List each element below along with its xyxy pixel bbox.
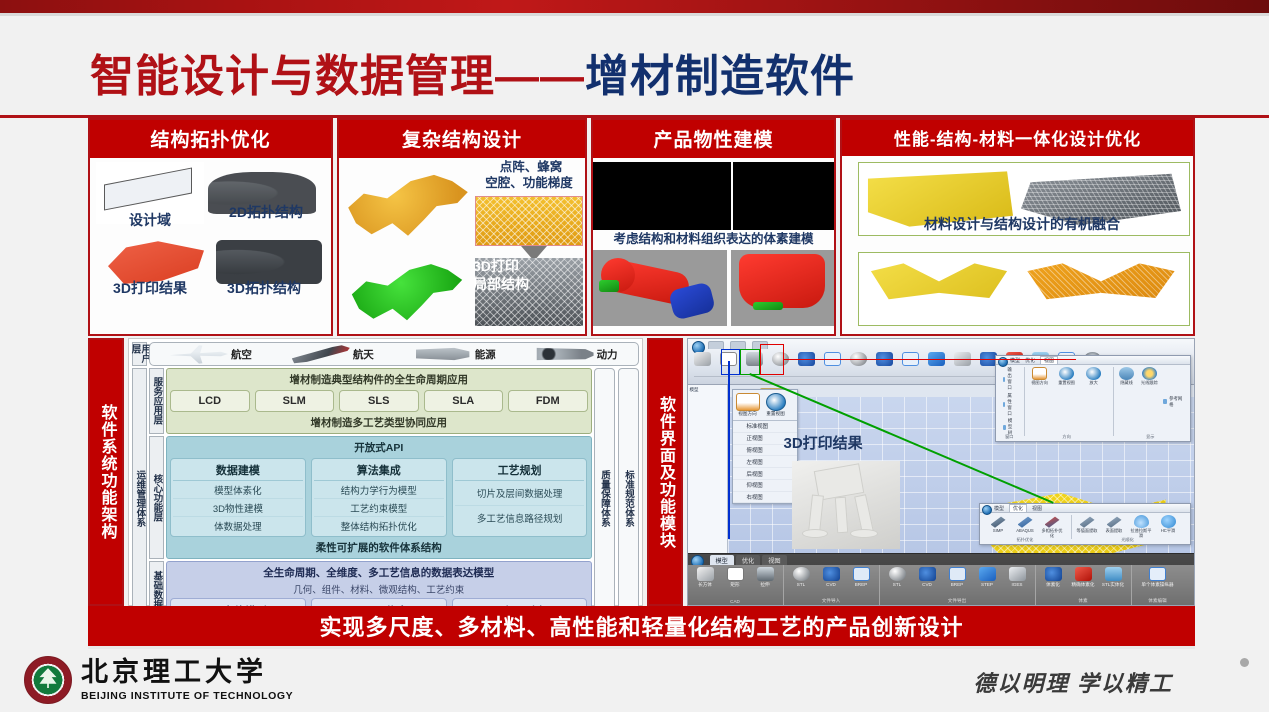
core-layer-body: 开放式API 数据建模 模型体素化 3D物性建模 体数据处理 算法集成 结构力学…: [166, 436, 592, 559]
tab-view[interactable]: [752, 341, 768, 349]
topology-3d-image: [216, 240, 322, 284]
group-topology-optimization: SIMP ABAQUS 多相拓扑优化 拓扑优化: [983, 515, 1067, 539]
university-name-en: BEIJING INSTITUTE OF TECHNOLOGY: [81, 690, 293, 702]
core-bottom-band: 柔性可扩展的软件体系结构: [170, 540, 588, 555]
panel-header: 产品物性建模: [593, 120, 834, 158]
panel-header: 性能-结构-材料一体化设计优化: [842, 120, 1193, 156]
view-direction-cell[interactable]: 视图方向: [1029, 367, 1051, 436]
panel-body: 考虑结构和材料组织表达的体素建模: [593, 158, 834, 334]
quality-assurance-column: 质量保障体系: [594, 368, 615, 628]
sphere-icon: [793, 567, 810, 581]
core-column-data-modeling: 数据建模 模型体素化 3D物性建模 体数据处理: [170, 458, 306, 537]
group-name: 窗口: [999, 434, 1020, 440]
group-direction: 视图方向 重置视图 放大 方向: [1024, 367, 1109, 436]
tab-model[interactable]: [708, 341, 724, 349]
service-chip-fdm[interactable]: FDM: [508, 390, 588, 412]
university-motto: 德以明理 学以精工: [973, 666, 1173, 698]
hidden-line-icon: [1119, 367, 1134, 380]
popup-optimize-tabs: 模型 优化 视图: [980, 504, 1190, 513]
bottom-tab-optimize[interactable]: 优化: [736, 555, 760, 565]
popup-optimize-ribbon[interactable]: 模型 优化 视图 SIMP ABAQUS 多相拓扑优化: [979, 503, 1191, 545]
caption-design-domain: 设计域: [104, 212, 196, 228]
laplacian-smooth-cell[interactable]: 拉普拉斯平滑: [1130, 515, 1152, 539]
model-tree-panel[interactable]: 模型: [688, 385, 728, 553]
view-direction-label: 视图方向: [736, 411, 760, 417]
ray-tracing-cell[interactable]: 光线跟踪: [1140, 367, 1158, 436]
core-function-layer: 核心功能层 开放式API 数据建模 模型体素化 3D物性建模 体数据处理: [149, 436, 592, 559]
bracket-pair-frame-bottom: [858, 252, 1190, 326]
group-windows: 输出窗口 属性窗口 模型树 窗口: [999, 367, 1020, 436]
app-tab-strip: [708, 341, 768, 349]
droplet-icon: [1134, 515, 1149, 528]
panel-body: 材料设计与结构设计的有机融合: [842, 156, 1193, 334]
base-top-band: 全生命周期、全维度、多工艺信息的数据表达模型: [170, 565, 588, 580]
abaqus-cell[interactable]: ABAQUS: [1014, 515, 1036, 539]
panel-material-property-modeling: 产品物性建模 考虑结构和材料组织表达的体素建模: [591, 118, 836, 336]
engine-icon: [414, 343, 472, 365]
architecture-side-label: 软件系统功能架构: [88, 338, 124, 606]
annotation-line-blue: [728, 361, 730, 539]
multi-material-closeup-image: [731, 250, 834, 326]
service-chip-slm[interactable]: SLM: [255, 390, 335, 412]
page-title-red: 智能设计与数据管理——: [90, 52, 585, 101]
lattice-closeup-image: [475, 196, 583, 246]
rectangle-icon: [727, 567, 744, 581]
bottom-ribbon-tabs: 模型 优化 视图: [688, 554, 1195, 565]
bottom-group-voxel-edit: 单个体素操纵器 体素编辑: [1131, 565, 1184, 605]
group-name: 体素: [1036, 598, 1131, 604]
brep-icon: [853, 567, 870, 581]
voxel-dragon-image: [593, 162, 731, 230]
cvd-icon: [823, 567, 840, 581]
ops-management-label: 运维管理体系: [132, 368, 147, 628]
service-chip-lcd[interactable]: LCD: [170, 390, 250, 412]
rocket-icon: [292, 343, 350, 365]
caption-3d-topology: 3D拓扑结构: [212, 280, 316, 296]
voxel-manipulator-icon: [1149, 567, 1166, 581]
core-column-process-planning: 工艺规划 切片及层间数据处理 多工艺信息路径规划: [452, 458, 588, 537]
core-top-band: 开放式API: [170, 440, 588, 455]
top-accent-bar: [0, 0, 1269, 13]
user-item-label: 能源: [475, 347, 496, 362]
popup-tab-model[interactable]: 模型: [994, 505, 1004, 512]
feature-panels: 结构拓扑优化 设计域 2D拓扑结构 3D打印结果 3D拓扑结构 复杂结构设计 点…: [88, 118, 1195, 336]
model-tree-label: 模型: [688, 385, 727, 393]
voxelize-icon: [1045, 567, 1062, 581]
popup-view-body: 输出窗口 属性窗口 模型树 窗口 视图方向 重置视图: [996, 365, 1190, 441]
group-name: 显示: [1114, 434, 1187, 440]
core-column-header: 算法集成: [314, 461, 444, 481]
view-direction-button[interactable]: 视图方向: [736, 393, 760, 417]
user-item-power: 动力: [536, 343, 618, 365]
magnifier-icon: [766, 393, 786, 411]
popup-view-tabs: 模型 优化 视图: [996, 356, 1190, 365]
hidden-line-cell[interactable]: 隐藏线: [1118, 367, 1136, 436]
bottom-group-voxel: 体素化 精确体素化 STL实体化 体素: [1035, 565, 1131, 605]
service-layer-label: 服务应用层: [149, 368, 164, 434]
title-zone: 智能设计与数据管理——增材制造软件: [0, 16, 1269, 118]
user-item-aerospace: 航天: [292, 343, 374, 365]
software-screenshot: 模型 视图方向 重置视图 标准视图 正视图 俯视图: [687, 338, 1196, 606]
menu-item-bottom-view[interactable]: 仰视图: [733, 480, 797, 492]
annotation-line-red: [784, 359, 1076, 360]
lower-section: 软件系统功能架构 用户层 航空 航天 能源: [88, 338, 1195, 606]
caption-material-structure-fusion: 材料设计与结构设计的有机融合: [862, 216, 1182, 232]
output-window-icon: [1003, 377, 1005, 382]
reset-view-cell[interactable]: 重置视图: [1056, 367, 1078, 436]
multi-material-part-image: [593, 250, 727, 326]
bit-seal-icon: [24, 656, 72, 704]
popup-tab-model[interactable]: 模型: [1010, 357, 1020, 364]
core-column-algorithm-integration: 算法集成 结构力学行为模型 工艺约束模型 整体结构拓扑优化: [311, 458, 447, 537]
horse-lattice-image: [343, 164, 473, 242]
footer: 北京理工大学 BEIJING INSTITUTE OF TECHNOLOGY 德…: [0, 650, 1269, 712]
page-title-blue: 增材制造软件: [585, 52, 855, 101]
caption-3d-printed: 3D打印结果: [100, 280, 200, 296]
step-icon: [979, 567, 996, 581]
printed-part-photo: [792, 461, 900, 549]
menu-item-right-view[interactable]: 右视图: [733, 492, 797, 504]
extrude-icon: [757, 567, 774, 581]
university-name-cn: 北京理工大学: [81, 659, 293, 686]
user-item-label: 航空: [231, 347, 252, 362]
footer-dot: [1240, 658, 1249, 667]
airplane-icon: [170, 343, 228, 365]
menu-item-back-view[interactable]: 后视图: [733, 468, 797, 480]
wishbone-yellow-image: [865, 257, 1013, 321]
service-bottom-band: 增材制造多工艺类型协同应用: [170, 415, 588, 430]
brep-icon: [949, 567, 966, 581]
multiphase-topology-cell[interactable]: 多相拓扑优化: [1041, 515, 1063, 539]
user-layer-label: 用户层: [132, 342, 147, 366]
group-smoothing: 等值面提取 表面提取 拉普拉斯平滑 HC平滑 光顺化: [1071, 515, 1183, 539]
wishbone-lattice-image: [1021, 257, 1181, 321]
magnifier-icon: [1086, 367, 1101, 380]
caption-voxel-modeling: 考虑结构和材料组织表达的体素建模: [593, 232, 834, 246]
surface-extract-cell[interactable]: 表面提取: [1103, 515, 1125, 539]
view-direction-icon: [736, 393, 760, 411]
bottom-ribbon: 模型 优化 视图 长方体 矩形 拉伸: [688, 553, 1195, 605]
panel-header: 复杂结构设计: [339, 120, 585, 158]
group-name: 体素编辑: [1132, 598, 1184, 604]
banner-underline: [88, 646, 1195, 649]
property-window-item[interactable]: 属性窗口: [1003, 393, 1016, 417]
panel-topology-optimization: 结构拓扑优化 设计域 2D拓扑结构 3D打印结果 3D拓扑结构: [88, 118, 333, 336]
core-layer-label: 核心功能层: [149, 436, 164, 559]
page-title: 智能设计与数据管理——增材制造软件: [90, 40, 855, 104]
base-sub-band: 几何、组件、材料、微观结构、工艺约束: [170, 582, 588, 596]
core-column-item: 切片及层间数据处理: [455, 481, 585, 506]
turbine-icon: [536, 343, 594, 365]
reset-view-label: 重置视图: [763, 411, 789, 417]
service-layer-body: 增材制造典型结构件的全生命周期应用 LCD SLM SLS SLA FDM 增材…: [166, 368, 592, 434]
core-column-item: 整体结构拓扑优化: [314, 517, 444, 534]
cuboid-icon: [697, 567, 714, 581]
core-columns: 数据建模 模型体素化 3D物性建模 体数据处理 算法集成 结构力学行为模型 工艺…: [170, 458, 588, 537]
user-layer-row: 用户层 航空 航天 能源 动力: [132, 342, 639, 366]
cuboid-icon[interactable]: [694, 352, 711, 366]
hc-smooth-icon: [1161, 515, 1176, 528]
group-display: 隐藏线 光线跟踪 参考网格 显示: [1113, 367, 1187, 436]
isosurface-extract-cell[interactable]: 等值面提取: [1076, 515, 1098, 539]
menu-item-standard-view[interactable]: 标准视图: [733, 421, 797, 433]
architecture-body: 运维管理体系 服务应用层 增材制造典型结构件的全生命周期应用 LCD SLM S…: [132, 368, 639, 628]
panel-complex-structure-design: 复杂结构设计 点阵、蜂窝 空腔、功能梯度 3D打印 局部结构: [337, 118, 587, 336]
overlay-caption-3d-print-result: 3D打印结果: [784, 435, 874, 453]
view-direction-icon: [1032, 367, 1047, 380]
group-name: 拓扑优化: [983, 537, 1067, 543]
horse-green-image: [347, 254, 467, 326]
group-name: 方向: [1025, 434, 1109, 440]
reference-grid-item[interactable]: 参考网格: [1163, 396, 1183, 408]
voxel-cloud-image: [733, 162, 834, 230]
bottom-ribbon-strip: 长方体 矩形 拉伸 CAD STL: [688, 565, 1195, 605]
popup-tab-view[interactable]: 视图: [1032, 505, 1042, 512]
stl-solidify-icon: [1105, 567, 1122, 581]
core-column-item: 体数据处理: [173, 517, 303, 534]
core-column-item: 3D物性建模: [173, 499, 303, 517]
bottom-tab-view[interactable]: 视图: [762, 555, 786, 565]
simp-icon: [991, 515, 1006, 528]
software-architecture-diagram: 用户层 航空 航天 能源 动力: [128, 338, 643, 606]
exact-voxelize-icon: [1075, 567, 1092, 581]
standards-column: 标准规范体系: [618, 368, 639, 628]
user-layer-items: 航空 航天 能源 动力: [149, 342, 639, 366]
user-item-energy: 能源: [414, 343, 496, 365]
bottom-group-import: STL CVD BREP 文件导入: [783, 565, 879, 605]
core-column-header: 数据建模: [173, 461, 303, 481]
ray-tracing-icon: [1142, 367, 1157, 380]
user-item-label: 动力: [597, 347, 618, 362]
layer-stack: 服务应用层 增材制造典型结构件的全生命周期应用 LCD SLM SLS SLA …: [149, 368, 592, 628]
group-name: 光顺化: [1072, 537, 1183, 543]
popup-tab-optimize[interactable]: 优化: [1025, 357, 1035, 364]
windows-stack: 输出窗口 属性窗口 模型树: [1003, 367, 1016, 436]
view-menu-list: 标准视图 正视图 俯视图 左视图 后视图 仰视图 右视图: [733, 420, 797, 503]
service-top-band: 增材制造典型结构件的全生命周期应用: [170, 372, 588, 387]
isosurface-icon: [1080, 515, 1095, 528]
service-chip-sla[interactable]: SLA: [424, 390, 504, 412]
core-column-item: 多工艺信息路径规划: [455, 506, 585, 530]
iges-icon: [1009, 567, 1026, 581]
panel-body: 点阵、蜂窝 空腔、功能梯度 3D打印 局部结构: [339, 158, 585, 334]
abaqus-icon: [1018, 515, 1033, 528]
panel-header: 结构拓扑优化: [90, 120, 331, 158]
reference-grid-stack: 参考网格: [1163, 367, 1183, 436]
simp-cell[interactable]: SIMP: [987, 515, 1009, 539]
group-name: CAD: [688, 599, 783, 604]
user-item-aviation: 航空: [170, 343, 252, 365]
software-side-label: 软件界面及功能模块: [647, 338, 683, 606]
property-window-icon: [1003, 402, 1005, 407]
group-name: 文件导出: [880, 598, 1035, 604]
popup-view-ribbon[interactable]: 模型 优化 视图 输出窗口 属性窗口 模型树 窗口 视图方向: [995, 355, 1191, 442]
university-logo: 北京理工大学 BEIJING INSTITUTE OF TECHNOLOGY: [24, 656, 293, 704]
service-chip-sls[interactable]: SLS: [339, 390, 419, 412]
bottom-banner-text: 实现多尺度、多材料、高性能和轻量化结构工艺的产品创新设计: [319, 610, 963, 642]
caption-3d-print: 3D打印: [473, 258, 565, 274]
core-column-header: 工艺规划: [455, 461, 585, 481]
bottom-tab-model[interactable]: 模型: [710, 555, 734, 565]
tab-optimize[interactable]: [730, 341, 746, 349]
hc-smooth-cell[interactable]: HC平滑: [1157, 515, 1179, 539]
popup-optimize-body: SIMP ABAQUS 多相拓扑优化 拓扑优化 等值面提取: [980, 513, 1190, 544]
output-window-item[interactable]: 输出窗口: [1003, 367, 1016, 391]
service-chips: LCD SLM SLS SLA FDM: [170, 390, 588, 412]
panel-integrated-design-optimization: 性能-结构-材料一体化设计优化 材料设计与结构设计的有机融合: [840, 118, 1195, 336]
menu-item-left-view[interactable]: 左视图: [733, 456, 797, 468]
multiphase-topology-icon: [1045, 515, 1060, 528]
caption-2d-topology: 2D拓扑结构: [214, 204, 318, 220]
model-tree-icon: [1003, 425, 1006, 430]
popup-tab-optimize[interactable]: 优化: [1009, 504, 1027, 512]
bottom-group-export: STL CVD BREP STEP: [879, 565, 1035, 605]
sphere-icon: [889, 567, 906, 581]
reset-view-button[interactable]: 重置视图: [763, 393, 789, 417]
panel-body: 设计域 2D拓扑结构 3D打印结果 3D拓扑结构: [90, 158, 331, 334]
caption-cavity-gradient: 空腔、功能梯度: [473, 176, 585, 190]
core-column-item: 工艺约束模型: [314, 499, 444, 517]
caption-lattice-honeycomb: 点阵、蜂窝: [479, 160, 583, 174]
service-application-layer: 服务应用层 增材制造典型结构件的全生命周期应用 LCD SLM SLS SLA …: [149, 368, 592, 434]
view-dropdown-buttons: 视图方向 重置视图: [733, 390, 797, 420]
caption-local-structure: 局部结构: [473, 276, 565, 292]
surface-extract-icon: [1107, 515, 1122, 528]
core-column-item: 模型体素化: [173, 481, 303, 499]
grid-icon: [1163, 399, 1167, 404]
cvd-icon: [919, 567, 936, 581]
user-item-label: 航天: [353, 347, 374, 362]
zoom-in-cell[interactable]: 放大: [1083, 367, 1105, 436]
core-column-item: 结构力学行为模型: [314, 481, 444, 499]
extrude-icon[interactable]: [746, 352, 763, 366]
bottom-banner: 实现多尺度、多材料、高性能和轻量化结构工艺的产品创新设计: [88, 606, 1195, 646]
architecture-right-columns: 质量保障体系 标准规范体系: [594, 368, 639, 628]
refresh-icon: [1059, 367, 1074, 380]
bottom-group-cad: 长方体 矩形 拉伸 CAD: [688, 565, 783, 605]
group-name: 文件导入: [784, 598, 879, 604]
popup-tab-view[interactable]: 视图: [1040, 356, 1058, 364]
